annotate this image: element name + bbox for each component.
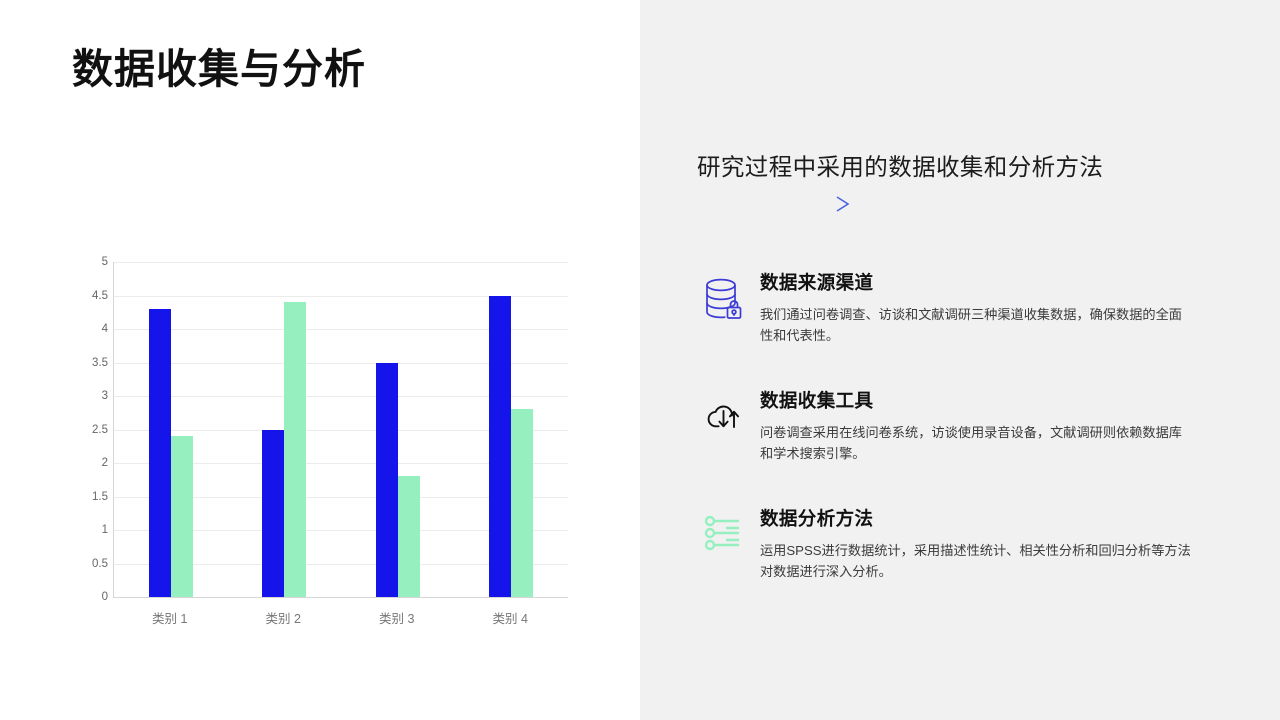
chart-y-tick-label: 1 (78, 524, 108, 536)
chart-x-tick-label: 类别 2 (266, 608, 301, 627)
page-title: 数据收集与分析 (72, 44, 366, 95)
chart-bar (284, 302, 306, 597)
chart-bar-group (455, 262, 569, 597)
chart-bar-group (228, 262, 342, 597)
bar-chart: 00.511.522.533.544.55 类别 1类别 2类别 3类别 4 (78, 252, 574, 642)
arrow-right-icon (697, 192, 853, 216)
chart-bar (511, 409, 533, 597)
feature-title: 数据来源渠道 (760, 269, 1260, 295)
chart-x-tick-label: 类别 4 (493, 608, 528, 627)
chart-y-tick-label: 0 (78, 591, 108, 603)
list-item: 数据收集工具 问卷调查采用在线问卷系统，访谈使用录音设备，文献调研则依赖数据库和… (688, 386, 1260, 482)
chart-bar (149, 309, 171, 597)
chart-y-tick-label: 3.5 (78, 357, 108, 369)
right-panel: 研究过程中采用的数据收集和分析方法 (640, 0, 1280, 720)
chart-y-tick-label: 4 (78, 323, 108, 335)
list-item: 数据来源渠道 我们通过问卷调查、访谈和文献调研三种渠道收集数据，确保数据的全面性… (688, 268, 1260, 364)
chart-x-tick-label: 类别 1 (152, 608, 187, 627)
settings-sliders-icon (688, 504, 760, 554)
list-item: 数据分析方法 运用SPSS进行数据统计，采用描述性统计、相关性分析和回归分析等方… (688, 504, 1260, 600)
chart-bar (376, 363, 398, 598)
chart-y-axis: 00.511.522.533.544.55 (78, 262, 108, 598)
chart-bar (171, 436, 193, 597)
chart-bar (398, 476, 420, 597)
feature-body: 数据收集工具 问卷调查采用在线问卷系统，访谈使用录音设备，文献调研则依赖数据库和… (760, 386, 1260, 465)
feature-body: 数据来源渠道 我们通过问卷调查、访谈和文献调研三种渠道收集数据，确保数据的全面性… (760, 268, 1260, 347)
chart-bar-group (114, 262, 228, 597)
feature-description: 问卷调查采用在线问卷系统，访谈使用录音设备，文献调研则依赖数据库和学术搜索引擎。 (760, 422, 1192, 465)
chart-x-tick-label: 类别 3 (379, 608, 414, 627)
feature-description: 运用SPSS进行数据统计，采用描述性统计、相关性分析和回归分析等方法对数据进行深… (760, 540, 1192, 583)
chart-bar (489, 296, 511, 598)
slide-root: 数据收集与分析 00.511.522.533.544.55 类别 1类别 2类别… (0, 0, 1280, 720)
chart-y-tick-label: 4.5 (78, 290, 108, 302)
feature-title: 数据收集工具 (760, 387, 1260, 413)
chart-y-tick-label: 0.5 (78, 558, 108, 570)
chart-y-tick-label: 1.5 (78, 491, 108, 503)
chart-y-tick-label: 5 (78, 256, 108, 268)
chart-y-tick-label: 3 (78, 390, 108, 402)
left-panel: 数据收集与分析 00.511.522.533.544.55 类别 1类别 2类别… (0, 0, 640, 720)
feature-list: 数据来源渠道 我们通过问卷调查、访谈和文献调研三种渠道收集数据，确保数据的全面性… (688, 268, 1260, 622)
feature-description: 我们通过问卷调查、访谈和文献调研三种渠道收集数据，确保数据的全面性和代表性。 (760, 304, 1192, 347)
cloud-sync-icon (688, 386, 760, 436)
section-subtitle: 研究过程中采用的数据收集和分析方法 (697, 148, 1103, 182)
feature-body: 数据分析方法 运用SPSS进行数据统计，采用描述性统计、相关性分析和回归分析等方… (760, 504, 1260, 583)
feature-title: 数据分析方法 (760, 505, 1260, 531)
chart-plot-area (113, 262, 568, 598)
chart-y-tick-label: 2.5 (78, 424, 108, 436)
chart-bar (262, 430, 284, 598)
chart-y-tick-label: 2 (78, 457, 108, 469)
database-lock-icon (688, 268, 760, 322)
chart-bar-group (341, 262, 455, 597)
